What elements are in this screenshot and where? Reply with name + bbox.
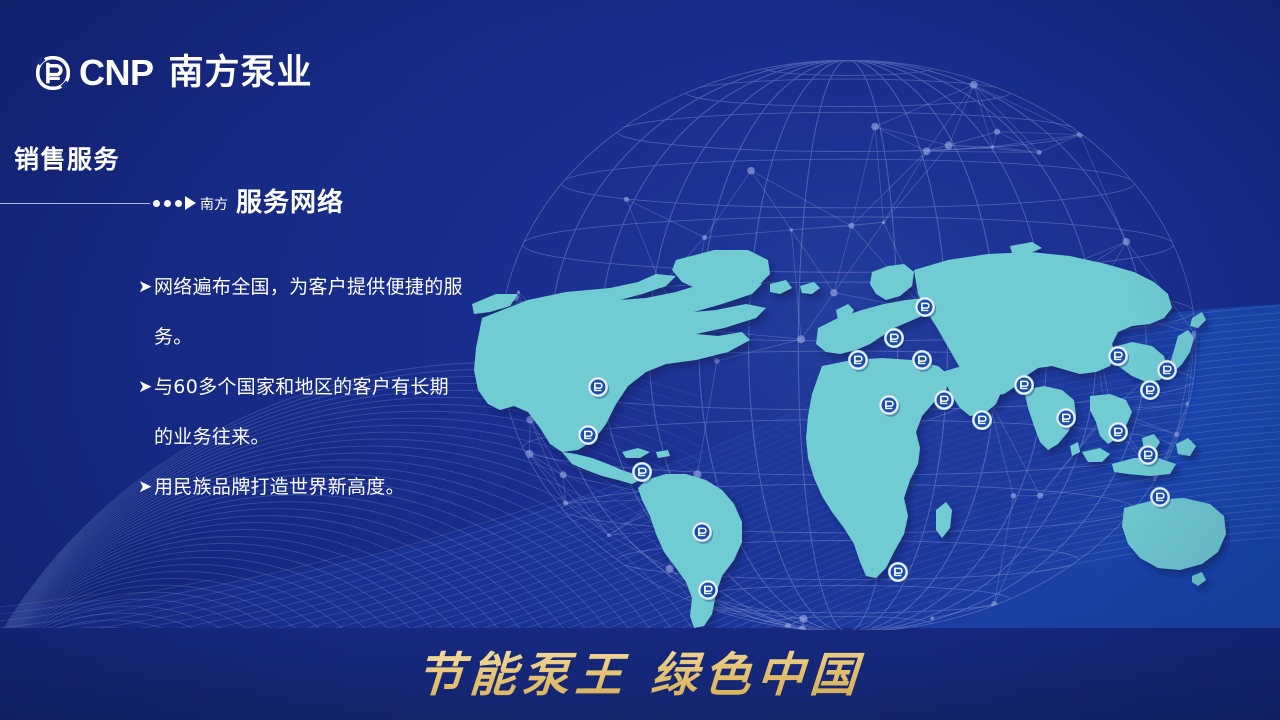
list-item-text: 用民族品牌打造世界新高度。 — [154, 462, 468, 512]
list-item-text: 网络遍布全国，为客户提供便捷的服务。 — [154, 262, 468, 362]
bullet-arrow-icon: ➤ — [138, 362, 152, 412]
list-item: ➤ 与60多个国家和地区的客户有长期的业务往来。 — [138, 362, 468, 462]
list-item: ➤ 用民族品牌打造世界新高度。 — [138, 462, 468, 512]
presentation-slide: CNP 南方泵业 销售服务 南方 服务网络 ➤ 网络遍布全国，为客户提供便捷的服… — [0, 0, 1280, 720]
triangle-arrow-icon — [185, 196, 196, 210]
brand-chinese-name: 南方泵业 — [169, 56, 313, 91]
subheading-row: 南方 服务网络 — [0, 172, 470, 214]
subheading-dots-icon — [153, 200, 182, 207]
list-item: ➤ 网络遍布全国，为客户提供便捷的服务。 — [138, 262, 468, 362]
brand-logo[interactable]: CNP 南方泵业 — [36, 55, 313, 91]
page-title: 销售服务 — [14, 140, 120, 176]
list-item-text: 与60多个国家和地区的客户有长期的业务往来。 — [154, 362, 468, 462]
bullet-arrow-icon: ➤ — [138, 462, 152, 512]
bullet-list: ➤ 网络遍布全国，为客户提供便捷的服务。 ➤ 与60多个国家和地区的客户有长期的… — [138, 262, 468, 512]
cnp-logo-mark-icon — [36, 56, 70, 90]
bullet-arrow-icon: ➤ — [138, 262, 152, 312]
slogan-text: 节能泵王 绿色中国 — [0, 636, 1280, 705]
brand-latin-name: CNP — [79, 55, 154, 91]
subheading-rule — [0, 203, 150, 204]
subheading-title: 服务网络 — [236, 182, 344, 219]
subheading-prefix: 南方 — [200, 194, 228, 214]
